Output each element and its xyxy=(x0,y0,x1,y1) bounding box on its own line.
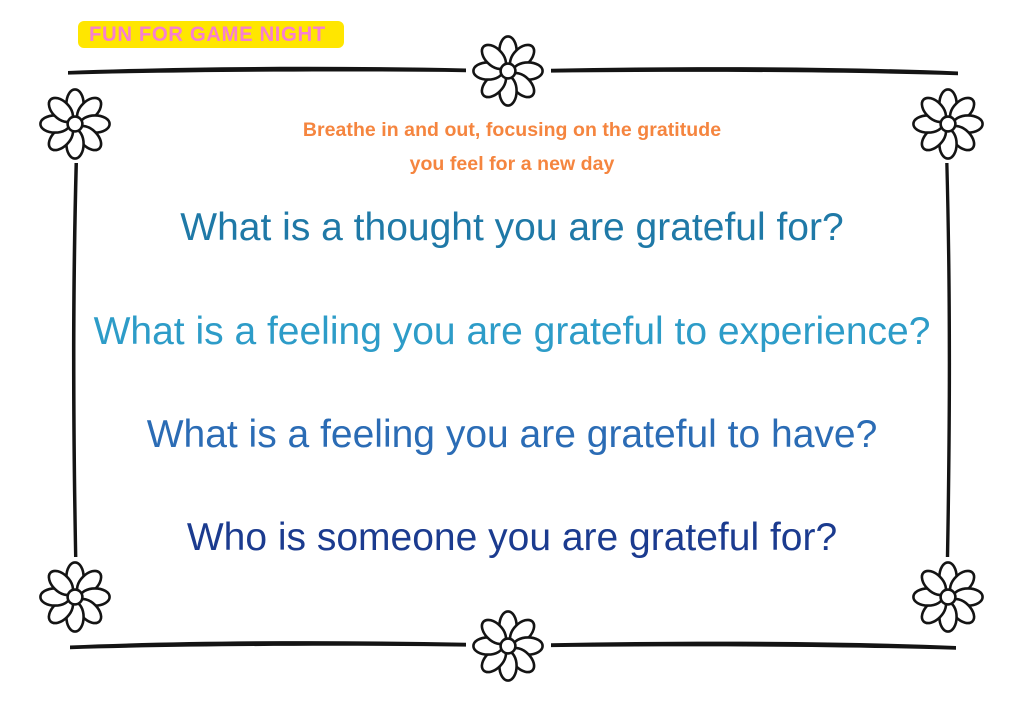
gratitude-question-1: What is a thought you are grateful for? xyxy=(0,208,1024,247)
card-content: Breathe in and out, focusing on the grat… xyxy=(0,0,1024,723)
breathing-instruction-line-1: Breathe in and out, focusing on the grat… xyxy=(0,114,1024,148)
gratitude-question-3: What is a feeling you are grateful to ha… xyxy=(0,415,1024,454)
gratitude-question-4: Who is someone you are grateful for? xyxy=(0,518,1024,557)
breathing-instruction: Breathe in and out, focusing on the grat… xyxy=(0,114,1024,181)
gratitude-question-2: What is a feeling you are grateful to ex… xyxy=(0,312,1024,351)
breathing-instruction-line-2: you feel for a new day xyxy=(0,148,1024,182)
